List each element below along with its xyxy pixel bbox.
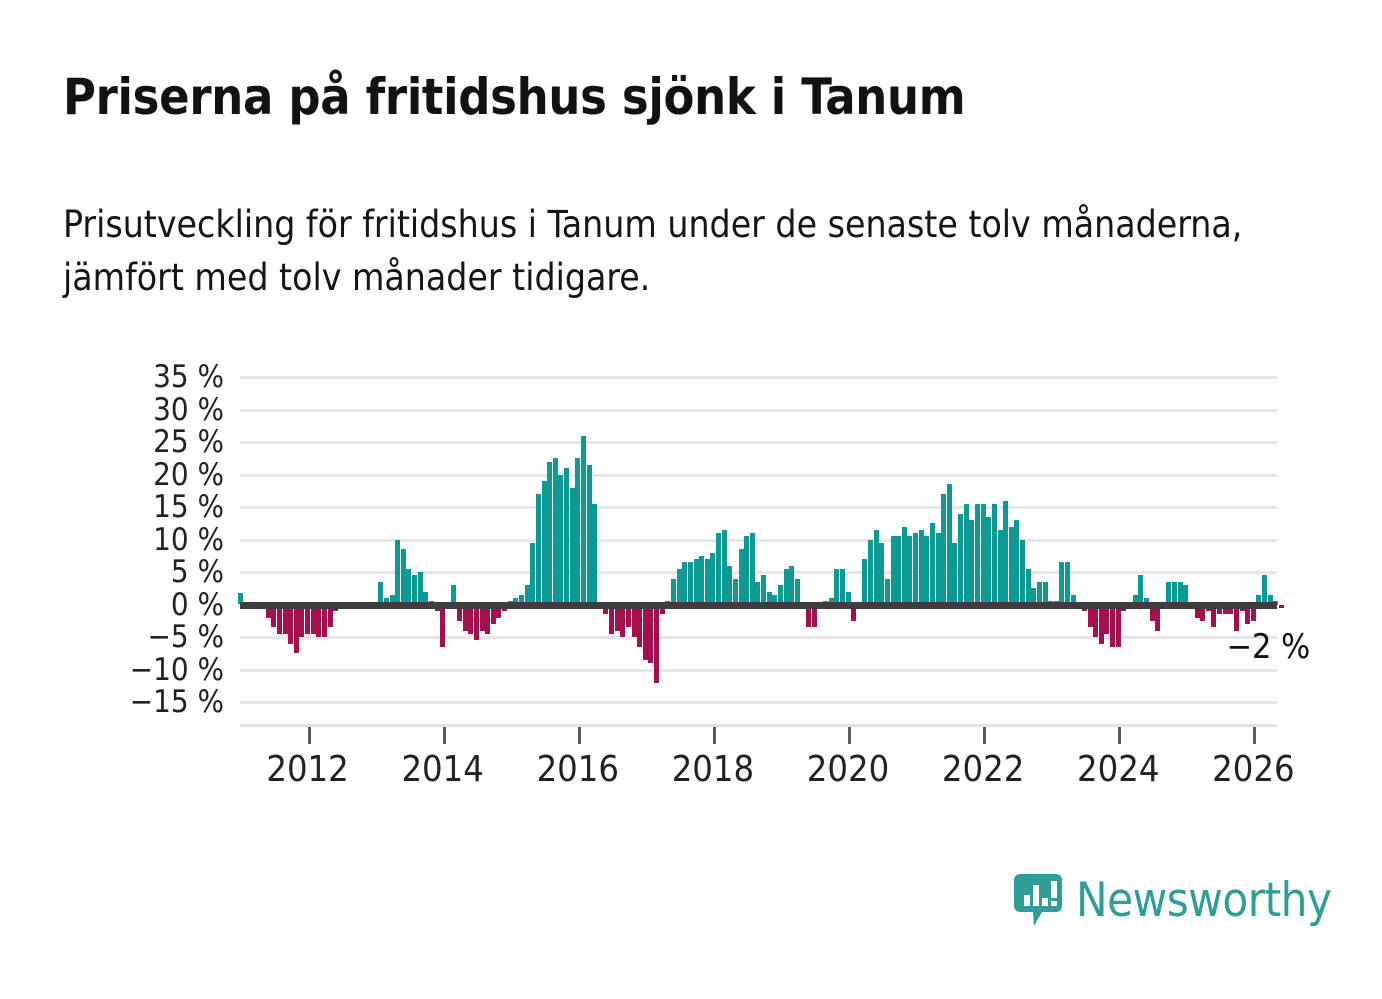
- x-tick: [1118, 727, 1121, 744]
- x-axis-line: [240, 724, 1277, 727]
- chart-container: 35 %30 %25 %20 %15 %10 %5 %0 %−5 %−10 %−…: [0, 355, 1382, 785]
- x-tick: [1253, 727, 1256, 744]
- bar: [907, 536, 912, 604]
- bar: [986, 517, 991, 605]
- y-tick-label: 0 %: [24, 590, 224, 621]
- bar: [924, 536, 929, 604]
- bar: [553, 458, 558, 604]
- bar: [468, 605, 473, 634]
- bar: [294, 605, 299, 654]
- newsworthy-logo[interactable]: Newsworthy: [1012, 872, 1331, 928]
- bar: [750, 533, 755, 605]
- bar-series: [240, 377, 1277, 702]
- y-tick-label: −10 %: [24, 655, 224, 686]
- bar: [919, 530, 924, 605]
- bar: [699, 556, 704, 605]
- bar: [299, 605, 304, 638]
- bar: [609, 605, 614, 634]
- bar: [581, 436, 586, 605]
- bar: [305, 605, 310, 634]
- bar: [311, 605, 316, 634]
- bar: [412, 575, 417, 604]
- x-tick-label: 2026: [1173, 749, 1333, 790]
- bar: [710, 553, 715, 605]
- bar: [1065, 562, 1070, 604]
- bar: [716, 533, 721, 605]
- bar: [891, 536, 896, 604]
- bar: [643, 605, 648, 660]
- bar: [874, 530, 879, 605]
- bar: [1279, 605, 1284, 608]
- x-tick: [848, 727, 851, 744]
- bar: [1262, 575, 1267, 604]
- bar: [958, 514, 963, 605]
- bar: [530, 543, 535, 605]
- bar: [677, 569, 682, 605]
- bar: [1110, 605, 1115, 647]
- bar: [587, 465, 592, 605]
- bar: [840, 569, 845, 605]
- bar: [637, 605, 642, 647]
- bar: [1138, 575, 1143, 604]
- bar-chart-speech-bubble-icon: [1012, 872, 1064, 928]
- bar: [913, 533, 918, 605]
- y-tick-label: 35 %: [24, 362, 224, 393]
- y-tick-label: 20 %: [24, 460, 224, 491]
- bar: [485, 605, 490, 634]
- bar: [1116, 605, 1121, 647]
- bar: [316, 605, 321, 638]
- x-tick: [308, 727, 311, 744]
- bar: [981, 504, 986, 605]
- bar: [998, 530, 1003, 605]
- x-tick: [578, 727, 581, 744]
- page-subtitle: Prisutveckling för fritidshus i Tanum un…: [63, 198, 1348, 304]
- bar: [936, 533, 941, 605]
- bar: [1020, 540, 1025, 605]
- bar: [570, 488, 575, 605]
- bar: [969, 520, 974, 605]
- bar: [868, 540, 873, 605]
- y-tick-label: 30 %: [24, 395, 224, 426]
- bar: [834, 569, 839, 605]
- bar: [992, 504, 997, 605]
- bar: [322, 605, 327, 638]
- bar: [654, 605, 659, 683]
- bar: [474, 605, 479, 641]
- bar: [789, 566, 794, 605]
- bar: [536, 494, 541, 605]
- bar: [592, 504, 597, 605]
- bar: [744, 536, 749, 604]
- bar: [1003, 501, 1008, 605]
- bar: [575, 458, 580, 604]
- y-tick-label: 15 %: [24, 492, 224, 523]
- plot-area: [240, 377, 1277, 702]
- y-tick-label: 10 %: [24, 525, 224, 556]
- page-title: Priserna på fritidshus sjönk i Tanum: [63, 68, 1343, 126]
- bar: [632, 605, 637, 638]
- bar: [1009, 527, 1014, 605]
- x-tick: [713, 727, 716, 744]
- bar: [694, 559, 699, 605]
- bar: [896, 536, 901, 604]
- y-tick-label: −5 %: [24, 622, 224, 653]
- bar: [542, 481, 547, 605]
- bar: [406, 569, 411, 605]
- bar: [288, 605, 293, 644]
- y-tick-label: 5 %: [24, 557, 224, 588]
- y-tick-label: −15 %: [24, 687, 224, 718]
- bar: [277, 605, 282, 634]
- bar: [682, 562, 687, 604]
- bar: [648, 605, 653, 664]
- bar: [688, 562, 693, 604]
- zero-line: [240, 602, 1277, 609]
- bar: [418, 572, 423, 605]
- bar: [547, 462, 552, 605]
- bar: [862, 559, 867, 605]
- bar: [1104, 605, 1109, 634]
- bar: [1026, 569, 1031, 605]
- bar: [558, 475, 563, 605]
- bar: [739, 549, 744, 604]
- bar: [1014, 520, 1019, 605]
- bar: [1099, 605, 1104, 644]
- bar: [761, 575, 766, 604]
- bar: [930, 523, 935, 604]
- bar: [401, 549, 406, 604]
- x-tick: [983, 727, 986, 744]
- y-tick-label: 25 %: [24, 427, 224, 458]
- bar: [705, 559, 710, 605]
- bar: [964, 504, 969, 605]
- bar: [879, 543, 884, 605]
- bar: [975, 504, 980, 605]
- bar: [952, 543, 957, 605]
- bar: [440, 605, 445, 647]
- bar: [1059, 562, 1064, 604]
- bar: [283, 605, 288, 634]
- last-value-label: −2 %: [1226, 627, 1310, 667]
- bar: [1093, 605, 1098, 638]
- bar: [784, 569, 789, 605]
- bar: [395, 540, 400, 605]
- bar: [620, 605, 625, 638]
- logo-wordmark: Newsworthy: [1076, 877, 1331, 924]
- x-tick: [443, 727, 446, 744]
- bar: [941, 494, 946, 605]
- bar: [727, 566, 732, 605]
- bar: [722, 530, 727, 605]
- bar: [947, 484, 952, 604]
- bar: [902, 527, 907, 605]
- bar: [564, 468, 569, 605]
